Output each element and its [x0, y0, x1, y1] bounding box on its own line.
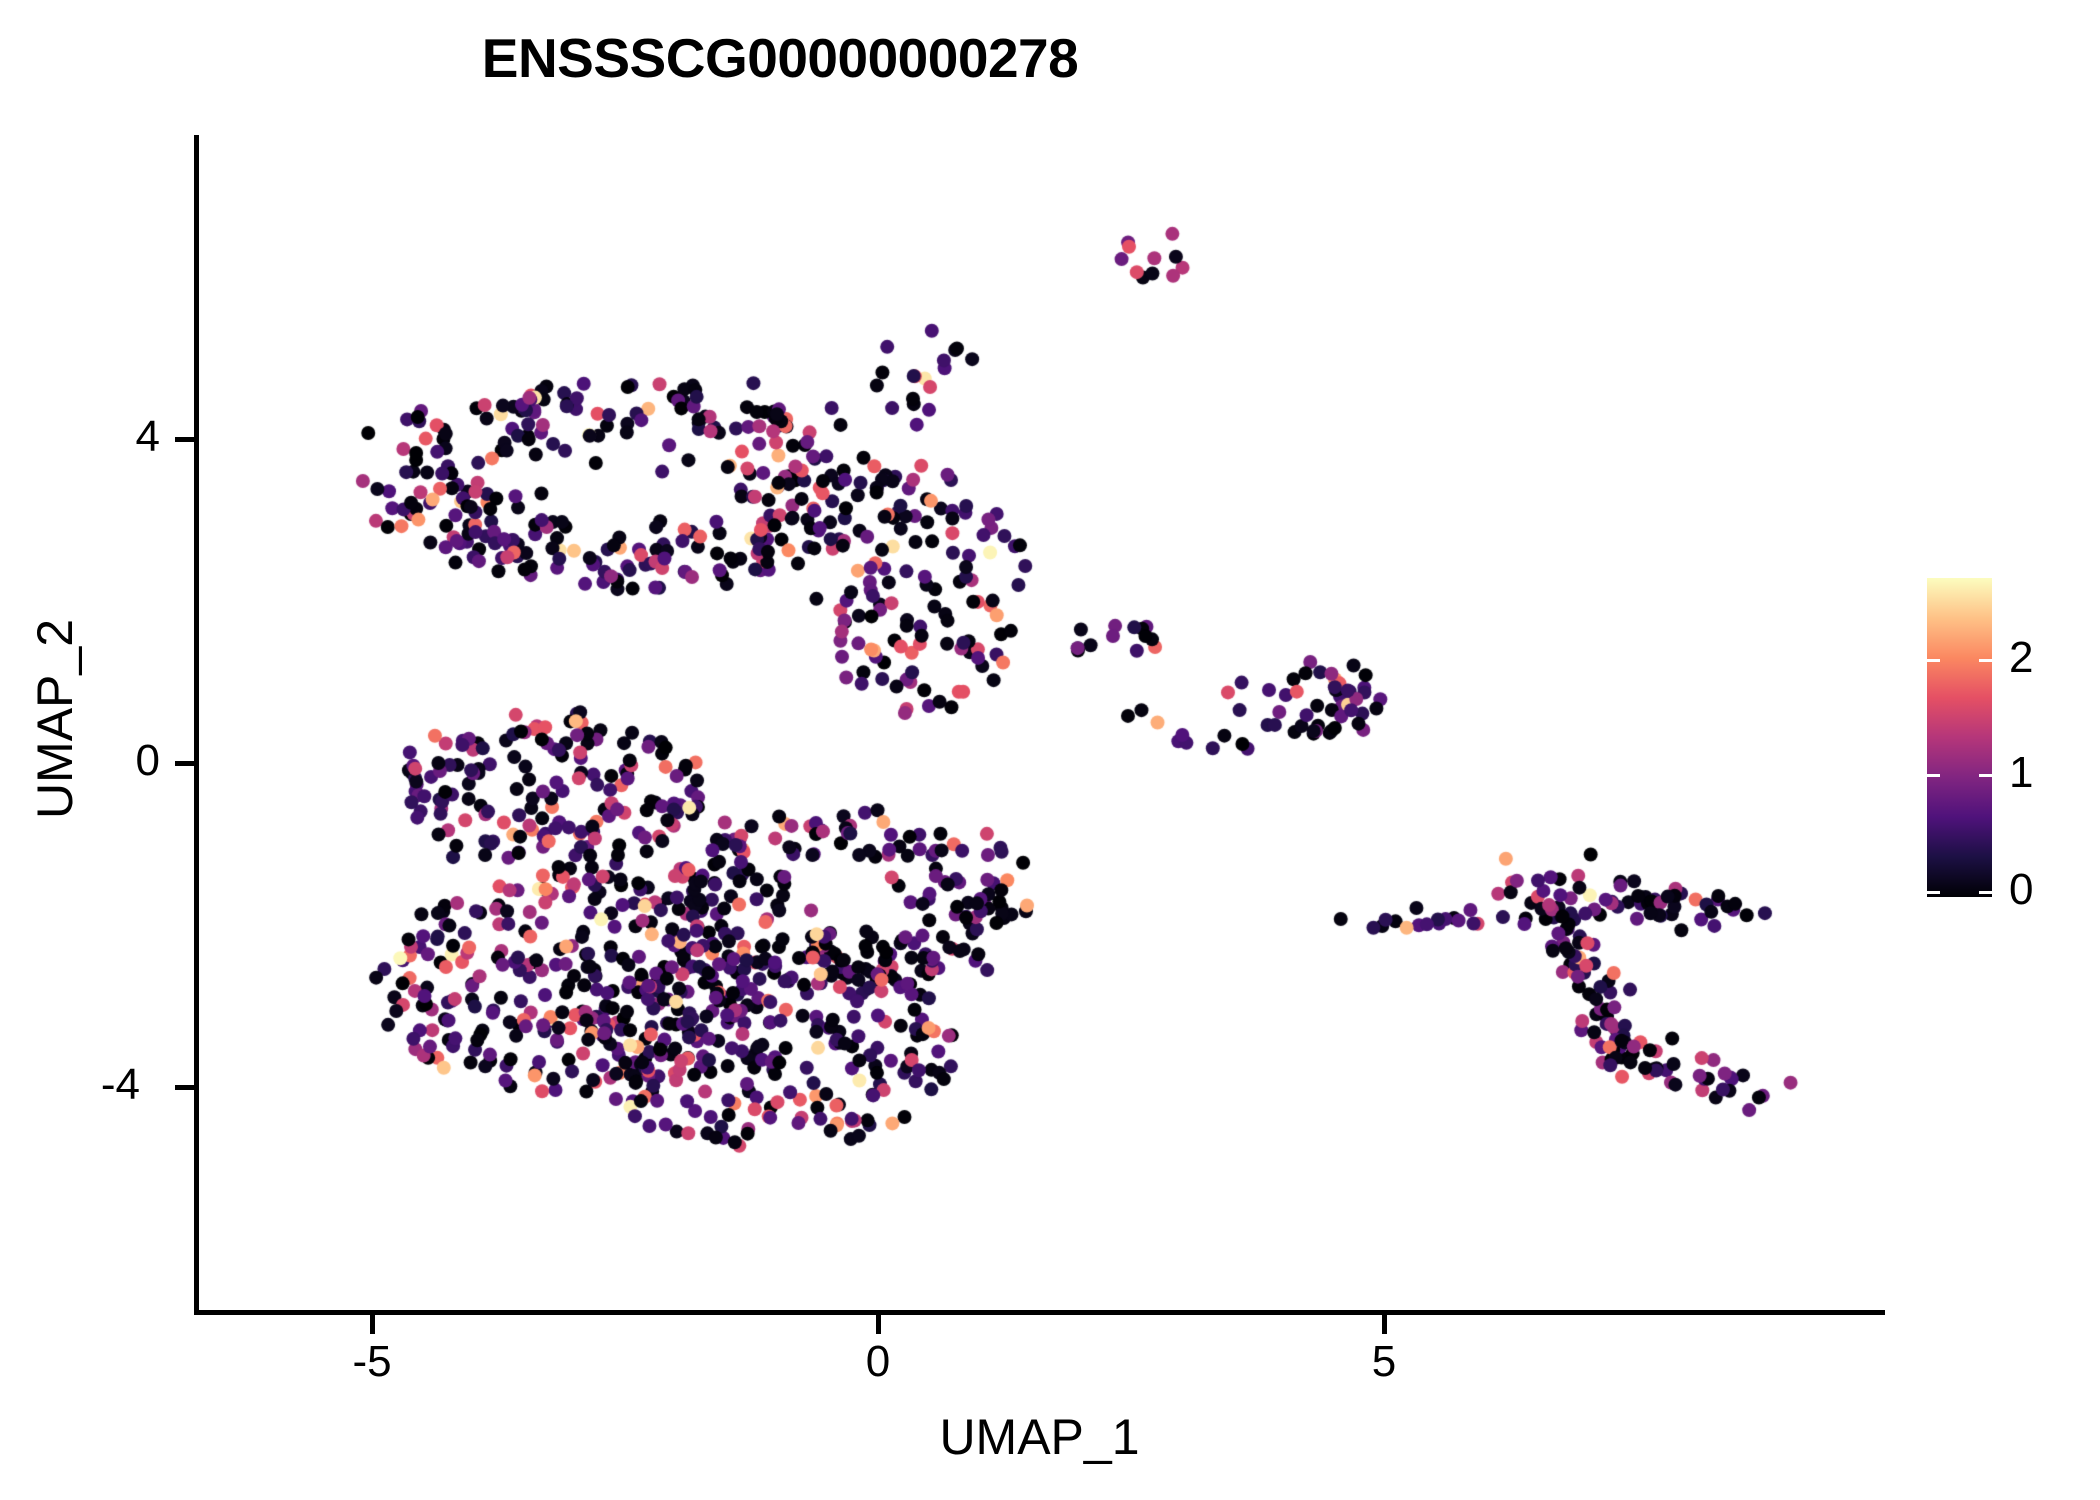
x-tick-mark-5 [1382, 1315, 1387, 1334]
colorbar-label-1: 1 [2009, 751, 2033, 795]
x-axis-line [194, 1310, 1885, 1315]
page-title: ENSSSCG00000000278 [0, 26, 1560, 90]
x-axis-title: UMAP_1 [194, 1408, 1885, 1466]
scatter-plot-canvas [0, 0, 2100, 1500]
colorbar-label-2: 2 [2009, 636, 2033, 680]
colorbar-legend: 2 1 0 [1927, 578, 2087, 908]
y-axis-title: UMAP_2 [26, 369, 84, 1069]
umap-feature-plot: ENSSSCG00000000278 4 0 -4 -5 0 5 UMAP_1 … [0, 0, 2100, 1500]
y-tick-mark-neg4 [175, 1085, 194, 1090]
y-tick-mark-0 [175, 761, 194, 766]
x-tick-mark-0 [876, 1315, 881, 1334]
colorbar-tick-1 [1927, 774, 1992, 777]
colorbar-label-0: 0 [2009, 868, 2033, 912]
colorbar-tick-2 [1927, 659, 1992, 662]
colorbar-gradient [1927, 578, 1992, 897]
colorbar-tick-0 [1927, 891, 1992, 894]
y-tick-mark-4 [175, 437, 194, 442]
y-tick-label-neg4: -4 [20, 1063, 140, 1107]
x-tick-mark-neg5 [370, 1315, 375, 1334]
x-tick-label-0: 0 [798, 1340, 958, 1384]
x-tick-label-neg5: -5 [292, 1340, 452, 1384]
x-tick-label-5: 5 [1304, 1340, 1464, 1384]
y-axis-line [194, 135, 199, 1315]
